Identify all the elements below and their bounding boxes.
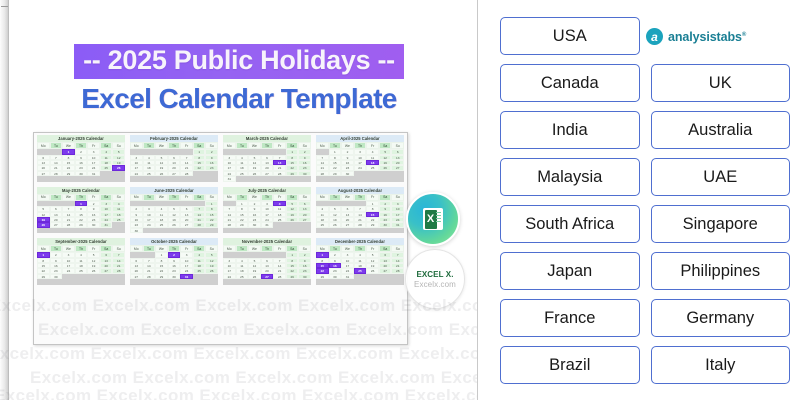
calendar-weekday-cell: Th <box>75 142 88 149</box>
calendar-day-cell <box>391 279 404 284</box>
calendar-day-cell <box>248 279 261 284</box>
calendar-day-cell <box>316 176 329 181</box>
watermark-text: Excelx.com Excelx.com Excelx.com Excelx.… <box>0 344 478 364</box>
calendar-week-row <box>316 176 404 181</box>
calendar-day-cell <box>75 228 88 233</box>
calendar-week-row <box>316 279 404 284</box>
registered-trademark-icon: ® <box>742 31 746 37</box>
country-button-italy[interactable]: Italy <box>651 346 791 384</box>
calendar-weekday-cell: Th <box>75 245 88 252</box>
calendar-weekday-cell: Tu <box>143 245 156 252</box>
country-button-brazil[interactable]: Brazil <box>500 346 640 384</box>
calendar-day-cell <box>236 279 249 284</box>
calendar-day-cell <box>168 279 181 284</box>
calendar-day-cell <box>112 176 125 181</box>
calendar-weekday-cell: Fr <box>273 142 286 149</box>
calendar-day-cell <box>193 176 206 181</box>
calendar-weekday-cell: Tu <box>50 194 63 201</box>
calendar-weekday-cell: Mo <box>130 142 143 149</box>
calendar-month-grid: January-2025 CalendarMoTuWeThFrSaSu12345… <box>37 135 404 285</box>
calendar-day-cell <box>298 176 311 181</box>
calendar-weekday-cell: Sa <box>193 194 206 201</box>
calendar-weekday-cell: Sa <box>100 142 113 149</box>
analysistabs-wordmark: analysistabs <box>668 30 742 44</box>
calendar-day-cell <box>273 279 286 284</box>
calendar-month[interactable]: April-2025 CalendarMoTuWeThFrSaSu1234567… <box>316 135 404 182</box>
calendar-day-cell <box>298 228 311 233</box>
calendar-day-cell <box>379 176 392 181</box>
calendar-weekday-cell: Tu <box>236 194 249 201</box>
calendar-day-cell <box>143 279 156 284</box>
calendar-day-cell <box>87 228 100 233</box>
calendar-weekday-cell: Tu <box>329 194 342 201</box>
calendar-day-cell <box>112 228 125 233</box>
calendar-weekday-cell: We <box>341 194 354 201</box>
window-edge-rail <box>0 0 9 400</box>
calendar-weekday-cell: Fr <box>366 142 379 149</box>
calendar-day-cell <box>193 279 206 284</box>
calendar-month[interactable]: December-2025 CalendarMoTuWeThFrSaSu1234… <box>316 238 404 285</box>
country-button-uae[interactable]: UAE <box>651 158 791 196</box>
calendar-weekday-cell: Tu <box>143 142 156 149</box>
calendar-day-cell <box>341 176 354 181</box>
calendar-day-cell <box>236 176 249 181</box>
calendar-weekday-cell: Mo <box>223 142 236 149</box>
calendar-day-cell <box>180 279 193 284</box>
calendar-weekday-cell: Su <box>205 245 218 252</box>
calendar-weekday-cell: Sa <box>286 142 299 149</box>
calendar-weekday-cell: We <box>155 142 168 149</box>
calendar-day-cell <box>329 176 342 181</box>
calendar-day-cell <box>62 228 75 233</box>
calendar-weekday-cell: We <box>62 245 75 252</box>
calendar-day-cell <box>223 279 236 284</box>
calendar-month-title: April-2025 Calendar <box>316 135 404 142</box>
calendar-weekday-cell: Mo <box>316 142 329 149</box>
calendar-weekday-cell: Tu <box>329 245 342 252</box>
calendar-day-cell <box>50 176 63 181</box>
calendar-day-cell <box>329 279 342 284</box>
calendar-weekday-cell: We <box>155 245 168 252</box>
calendar-day-cell <box>50 228 63 233</box>
calendar-day-cell <box>155 228 168 233</box>
calendar-day-cell <box>50 279 63 284</box>
calendar-month-title: June-2025 Calendar <box>130 187 218 194</box>
calendar-day-cell <box>37 279 50 284</box>
calendar-day-cell <box>100 228 113 233</box>
calendar-day-cell <box>75 279 88 284</box>
calendar-month-title: February-2025 Calendar <box>130 135 218 142</box>
calendar-weekday-header: MoTuWeThFrSaSu <box>316 245 404 252</box>
calendar-month-title: August-2025 Calendar <box>316 187 404 194</box>
calendar-weekday-cell: Mo <box>37 194 50 201</box>
calendar-month-title: July-2025 Calendar <box>223 187 311 194</box>
calendar-weekday-cell: Su <box>112 194 125 201</box>
calendar-day-cell <box>391 176 404 181</box>
analysistabs-logo[interactable]: a analysistabs® <box>646 28 746 45</box>
calendar-week-row <box>223 279 311 284</box>
calendar-weekday-cell: Fr <box>87 245 100 252</box>
calendar-month-title: May-2025 Calendar <box>37 187 125 194</box>
calendar-weekday-cell: Th <box>261 245 274 252</box>
calendar-month-row: January-2025 CalendarMoTuWeThFrSaSu12345… <box>37 135 404 182</box>
country-button-grid: USACanadaUKIndiaAustraliaMalaysiaUAESout… <box>500 17 790 384</box>
calendar-month-row: May-2025 CalendarMoTuWeThFrSaSu123456789… <box>37 187 404 234</box>
calendar-weekday-cell: Tu <box>329 142 342 149</box>
calendar-weekday-cell: Su <box>298 142 311 149</box>
calendar-day-cell <box>298 279 311 284</box>
calendar-weekday-cell: Su <box>205 194 218 201</box>
calendar-day-cell <box>248 176 261 181</box>
calendar-day-cell <box>316 279 329 284</box>
calendar-weekday-cell: Th <box>168 194 181 201</box>
calendar-weekday-cell: Mo <box>130 245 143 252</box>
calendar-weekday-cell: Fr <box>87 194 100 201</box>
calendar-day-cell <box>87 279 100 284</box>
calendar-month-title: October-2025 Calendar <box>130 238 218 245</box>
calendar-weekday-cell: Mo <box>37 245 50 252</box>
watermark-text: Excelx.com Excelx.com Excelx.com Excelx.… <box>30 368 478 388</box>
calendar-weekday-cell: We <box>341 245 354 252</box>
calendar-day-cell <box>273 176 286 181</box>
calendar-weekday-cell: Fr <box>180 194 193 201</box>
calendar-weekday-cell: Sa <box>193 142 206 149</box>
calendar-week-row: 31 <box>223 176 311 181</box>
calendar-weekday-header: MoTuWeThFrSaSu <box>130 142 218 149</box>
calendar-month-title: September-2025 Calendar <box>37 238 125 245</box>
calendar-weekday-cell: Mo <box>37 142 50 149</box>
calendar-weekday-cell: Th <box>354 194 367 201</box>
calendar-month[interactable]: July-2025 CalendarMoTuWeThFrSaSu12345678… <box>223 187 311 234</box>
analysistabs-logo-text: analysistabs® <box>668 30 746 44</box>
calendar-day-cell <box>366 176 379 181</box>
calendar-weekday-cell: Sa <box>379 194 392 201</box>
calendar-day-cell <box>205 279 218 284</box>
calendar-weekday-cell: Th <box>168 245 181 252</box>
analysistabs-mark-icon: a <box>646 28 663 45</box>
calendar-weekday-cell: Sa <box>286 245 299 252</box>
calendar-weekday-header: MoTuWeThFrSaSu <box>37 194 125 201</box>
calendar-week-row <box>37 176 125 181</box>
calendar-weekday-cell: Mo <box>130 194 143 201</box>
calendar-weekday-cell: Su <box>391 142 404 149</box>
calendar-week-row <box>223 228 311 233</box>
calendar-month[interactable]: September-2025 CalendarMoTuWeThFrSaSu123… <box>37 238 125 285</box>
excelx-badge-secondary: Excelx.com <box>414 280 456 289</box>
calendar-day-cell <box>261 228 274 233</box>
calendar-day-cell <box>205 228 218 233</box>
calendar-weekday-cell: Sa <box>379 245 392 252</box>
calendar-day-cell <box>273 228 286 233</box>
calendar-day-cell <box>100 176 113 181</box>
calendar-weekday-cell: Mo <box>223 194 236 201</box>
calendar-day-cell <box>248 228 261 233</box>
calendar-day-cell <box>379 279 392 284</box>
calendar-day-cell <box>193 228 206 233</box>
calendar-month[interactable]: January-2025 CalendarMoTuWeThFrSaSu12345… <box>37 135 125 182</box>
calendar-day-cell <box>130 176 143 181</box>
excel-gradient-badge: X <box>406 192 460 246</box>
country-button-south-africa[interactable]: South Africa <box>500 205 640 243</box>
country-button-japan[interactable]: Japan <box>500 252 640 290</box>
page-title-banner: -- 2025 Public Holidays -- <box>74 44 404 79</box>
calendar-day-cell <box>316 228 329 233</box>
calendar-weekday-cell: Fr <box>273 194 286 201</box>
calendar-day-cell <box>329 228 342 233</box>
calendar-week-row <box>37 279 125 284</box>
calendar-day-cell <box>286 228 299 233</box>
calendar-day-cell <box>37 176 50 181</box>
calendar-weekday-cell: Sa <box>100 245 113 252</box>
calendar-week-row <box>316 228 404 233</box>
calendar-week-row <box>130 279 218 284</box>
calendar-day-cell <box>236 228 249 233</box>
calendar-day-cell <box>155 176 168 181</box>
calendar-weekday-cell: Fr <box>366 245 379 252</box>
calendar-day-cell <box>341 279 354 284</box>
calendar-day-cell <box>391 228 404 233</box>
app-screen: -- 2025 Public Holidays -- Excel Calenda… <box>0 0 800 400</box>
calendar-weekday-cell: Su <box>391 245 404 252</box>
country-button-germany[interactable]: Germany <box>651 299 791 337</box>
calendar-day-cell <box>286 279 299 284</box>
calendar-weekday-cell: Su <box>205 142 218 149</box>
calendar-preview-pane: -- 2025 Public Holidays -- Excel Calenda… <box>0 0 478 400</box>
calendar-weekday-cell: Mo <box>316 194 329 201</box>
calendar-weekday-cell: Th <box>354 245 367 252</box>
calendar-weekday-cell: Fr <box>273 245 286 252</box>
calendar-weekday-header: MoTuWeThFrSaSu <box>37 142 125 149</box>
calendar-weekday-cell: Sa <box>193 245 206 252</box>
calendar-day-cell <box>87 176 100 181</box>
calendar-weekday-cell: We <box>248 245 261 252</box>
calendar-day-cell <box>261 279 274 284</box>
calendar-month[interactable]: February-2025 CalendarMoTuWeThFrSaSu1234… <box>130 135 218 182</box>
calendar-sheet[interactable]: January-2025 CalendarMoTuWeThFrSaSu12345… <box>33 132 408 345</box>
calendar-day-cell <box>286 176 299 181</box>
calendar-weekday-cell: Th <box>261 142 274 149</box>
calendar-weekday-cell: Fr <box>366 194 379 201</box>
calendar-day-cell <box>379 228 392 233</box>
calendar-month-title: March-2025 Calendar <box>223 135 311 142</box>
calendar-month-title: December-2025 Calendar <box>316 238 404 245</box>
calendar-weekday-cell: Th <box>75 194 88 201</box>
calendar-weekday-cell: Tu <box>143 194 156 201</box>
calendar-weekday-cell: Tu <box>50 142 63 149</box>
calendar-day-cell <box>223 228 236 233</box>
country-button-singapore[interactable]: Singapore <box>651 205 791 243</box>
country-button-canada[interactable]: Canada <box>500 64 640 102</box>
calendar-weekday-cell: Th <box>168 142 181 149</box>
calendar-weekday-cell: Tu <box>50 245 63 252</box>
calendar-weekday-cell: We <box>155 194 168 201</box>
calendar-weekday-header: MoTuWeThFrSaSu <box>37 245 125 252</box>
excelx-watermark-badge: EXCEL X. Excelx.com <box>405 249 465 309</box>
country-button-australia[interactable]: Australia <box>651 111 791 149</box>
country-button-uk[interactable]: UK <box>651 64 791 102</box>
calendar-weekday-cell: We <box>341 142 354 149</box>
country-button-malaysia[interactable]: Malaysia <box>500 158 640 196</box>
calendar-week-row <box>130 176 218 181</box>
calendar-weekday-cell: Sa <box>100 194 113 201</box>
calendar-day-cell <box>168 176 181 181</box>
calendar-weekday-cell: Mo <box>223 245 236 252</box>
country-selection-pane: a analysistabs® USACanadaUKIndiaAustrali… <box>478 0 800 400</box>
calendar-weekday-cell: Su <box>298 194 311 201</box>
calendar-day-cell <box>354 228 367 233</box>
calendar-day-cell <box>354 279 367 284</box>
calendar-day-cell <box>261 176 274 181</box>
calendar-day-cell <box>180 228 193 233</box>
calendar-day-cell <box>37 228 50 233</box>
calendar-month-title: November-2025 Calendar <box>223 238 311 245</box>
calendar-day-cell <box>205 176 218 181</box>
excel-x-letter: X <box>425 210 437 229</box>
calendar-day-cell <box>180 176 193 181</box>
calendar-month[interactable]: March-2025 CalendarMoTuWeThFrSaSu1234567… <box>223 135 311 182</box>
calendar-weekday-header: MoTuWeThFrSaSu <box>130 245 218 252</box>
calendar-weekday-cell: Th <box>354 142 367 149</box>
calendar-day-cell <box>168 228 181 233</box>
country-button-usa[interactable]: USA <box>500 17 640 55</box>
calendar-weekday-cell: Th <box>261 194 274 201</box>
calendar-weekday-cell: Mo <box>316 245 329 252</box>
calendar-month[interactable]: June-2025 CalendarMoTuWeThFrSaSu12345678… <box>130 187 218 234</box>
rail-tick <box>1 6 8 7</box>
calendar-day-cell <box>341 228 354 233</box>
calendar-month[interactable]: May-2025 CalendarMoTuWeThFrSaSu123456789… <box>37 187 125 234</box>
country-button-india[interactable]: India <box>500 111 640 149</box>
calendar-day-cell <box>112 279 125 284</box>
title-block: -- 2025 Public Holidays -- Excel Calenda… <box>14 44 464 115</box>
watermark-text: Excelx.com Excelx.com Excelx.com Excelx.… <box>0 386 478 400</box>
calendar-weekday-header: MoTuWeThFrSaSu <box>130 194 218 201</box>
country-button-france[interactable]: France <box>500 299 640 337</box>
calendar-day-cell <box>100 279 113 284</box>
calendar-weekday-cell: Sa <box>286 194 299 201</box>
calendar-weekday-cell: Su <box>298 245 311 252</box>
calendar-weekday-cell: Fr <box>180 245 193 252</box>
calendar-weekday-cell: Tu <box>236 245 249 252</box>
calendar-weekday-cell: Su <box>112 142 125 149</box>
excel-file-icon: X <box>423 208 443 230</box>
page-subtitle: Excel Calendar Template <box>14 83 464 115</box>
calendar-weekday-cell: We <box>62 142 75 149</box>
calendar-weekday-cell: Sa <box>379 142 392 149</box>
calendar-month[interactable]: October-2025 CalendarMoTuWeThFrSaSu12345… <box>130 238 218 285</box>
excelx-badge-primary: EXCEL X. <box>416 270 453 279</box>
calendar-day-cell <box>354 176 367 181</box>
calendar-weekday-cell: We <box>248 142 261 149</box>
calendar-day-cell[interactable]: 30 <box>130 228 143 233</box>
calendar-month-row: September-2025 CalendarMoTuWeThFrSaSu123… <box>37 238 404 285</box>
excel-sheet-lines-icon <box>436 212 441 226</box>
calendar-weekday-header: MoTuWeThFrSaSu <box>223 194 311 201</box>
calendar-weekday-cell: We <box>62 194 75 201</box>
calendar-day-cell <box>130 279 143 284</box>
calendar-day-cell <box>75 176 88 181</box>
calendar-weekday-header: MoTuWeThFrSaSu <box>223 245 311 252</box>
calendar-weekday-header: MoTuWeThFrSaSu <box>223 142 311 149</box>
calendar-day-cell <box>366 279 379 284</box>
calendar-day-cell <box>62 176 75 181</box>
calendar-week-row: 30 <box>130 228 218 233</box>
calendar-weekday-cell: Fr <box>87 142 100 149</box>
country-button-philippines[interactable]: Philippines <box>651 252 791 290</box>
calendar-weekday-cell: Fr <box>180 142 193 149</box>
calendar-day-cell <box>143 228 156 233</box>
calendar-day-cell <box>143 176 156 181</box>
calendar-week-row <box>37 228 125 233</box>
calendar-weekday-cell: We <box>248 194 261 201</box>
calendar-day-cell <box>366 228 379 233</box>
calendar-weekday-cell: Su <box>391 194 404 201</box>
calendar-month[interactable]: November-2025 CalendarMoTuWeThFrSaSu1234… <box>223 238 311 285</box>
calendar-day-cell <box>155 279 168 284</box>
calendar-day-cell[interactable]: 31 <box>223 176 236 181</box>
calendar-weekday-header: MoTuWeThFrSaSu <box>316 194 404 201</box>
calendar-weekday-cell: Tu <box>236 142 249 149</box>
calendar-day-cell <box>62 279 75 284</box>
calendar-weekday-cell: Su <box>112 245 125 252</box>
calendar-weekday-header: MoTuWeThFrSaSu <box>316 142 404 149</box>
calendar-month-title: January-2025 Calendar <box>37 135 125 142</box>
calendar-month[interactable]: August-2025 CalendarMoTuWeThFrSaSu123456… <box>316 187 404 234</box>
